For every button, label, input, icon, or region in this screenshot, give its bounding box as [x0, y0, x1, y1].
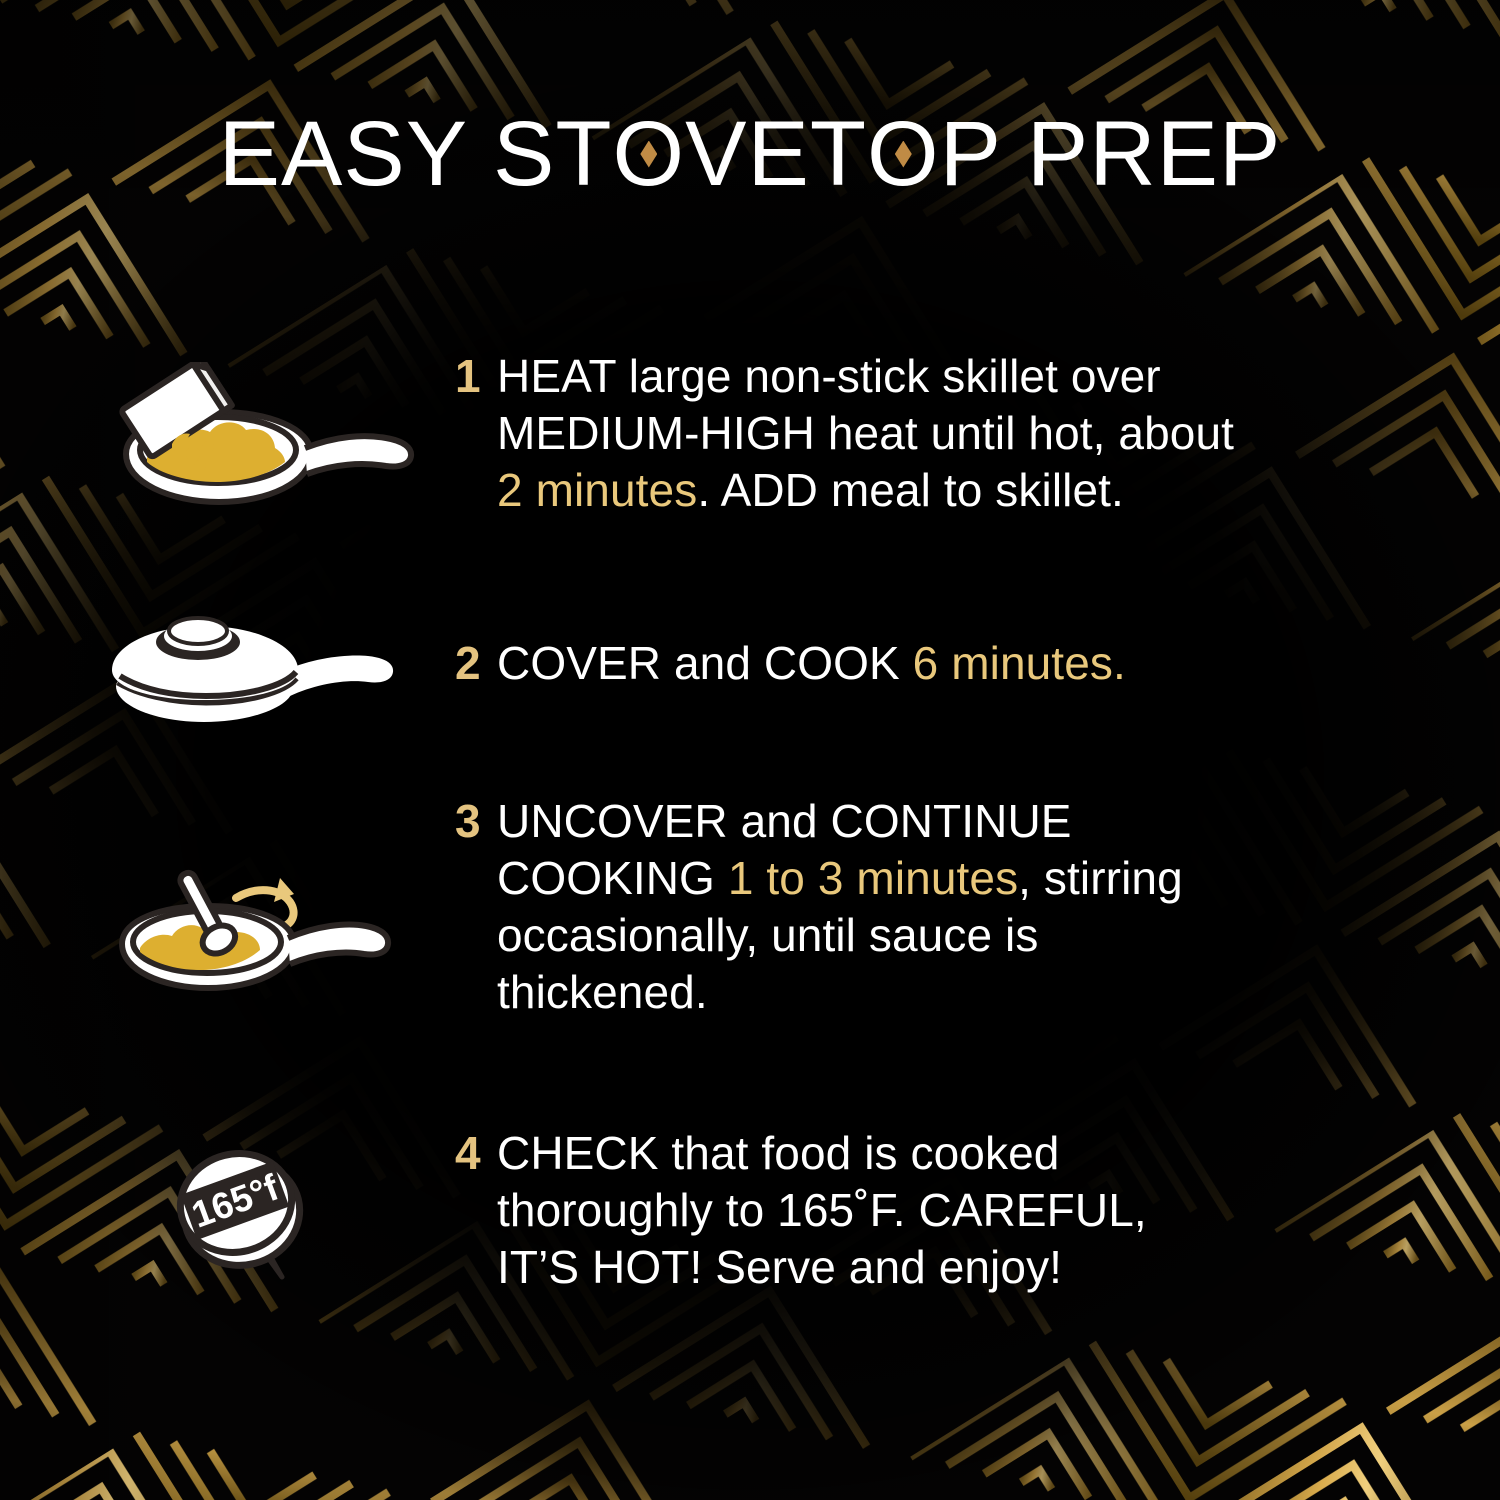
step-text-line: IT’S HOT! Serve and enjoy! — [497, 1239, 1147, 1296]
step-text-line: UNCOVER and CONTINUE — [497, 793, 1183, 850]
body-text: UNCOVER and CONTINUE — [497, 795, 1072, 847]
step-3-number: 3 — [455, 793, 497, 849]
step-2-text: COVER and COOK 6 minutes. — [497, 635, 1126, 692]
skillet-stir-icon — [108, 862, 408, 1017]
step-4-body: 4 CHECK that food is cookedthoroughly to… — [455, 1125, 1415, 1296]
step-2-number: 2 — [455, 635, 497, 691]
step-text-line: MEDIUM-HIGH heat until hot, about — [497, 405, 1234, 462]
body-text: MEDIUM-HIGH heat until hot, about — [497, 407, 1234, 459]
step-text-line: COOKING 1 to 3 minutes, stirring — [497, 850, 1183, 907]
title-part-0: EASY ST — [219, 108, 613, 200]
body-text: IT’S HOT! Serve and enjoy! — [497, 1241, 1062, 1293]
step-4-text: CHECK that food is cookedthoroughly to 1… — [497, 1125, 1147, 1296]
highlight-text: 1 to 3 minutes — [728, 852, 1018, 904]
body-text: thoroughly to 165˚F. CAREFUL, — [497, 1184, 1147, 1236]
step-2-body: 2 COVER and COOK 6 minutes. — [455, 635, 1455, 692]
step-1-body: 1 HEAT large non-stick skillet overMEDIU… — [455, 348, 1455, 519]
step-4-number: 4 — [455, 1125, 497, 1181]
step-3-text: UNCOVER and CONTINUECOOKING 1 to 3 minut… — [497, 793, 1183, 1021]
title-part-4: P PREP — [940, 108, 1282, 200]
step-3-body: 3 UNCOVER and CONTINUECOOKING 1 to 3 min… — [455, 793, 1415, 1021]
step-text-line: occasionally, until sauce is — [497, 907, 1183, 964]
step-1-text: HEAT large non-stick skillet overMEDIUM-… — [497, 348, 1234, 519]
skillet-pour-icon — [86, 362, 426, 532]
step-1-number: 1 — [455, 348, 497, 404]
body-text: HEAT large non-stick skillet over — [497, 350, 1161, 402]
title-part-2: VET — [685, 108, 867, 200]
highlight-text: 6 minutes. — [913, 637, 1126, 689]
step-text-line: thickened. — [497, 964, 1183, 1021]
page-title: EASY STOVETOP PREP — [0, 108, 1500, 200]
title-part-1: O — [613, 108, 686, 200]
body-text: , stirring — [1018, 852, 1183, 904]
step-text-line: COVER and COOK 6 minutes. — [497, 635, 1126, 692]
step-text-line: HEAT large non-stick skillet over — [497, 348, 1234, 405]
covered-skillet-icon — [98, 614, 418, 749]
body-text: COOKING — [497, 852, 728, 904]
step-text-line: thoroughly to 165˚F. CAREFUL, — [497, 1182, 1147, 1239]
body-text: CHECK that food is cooked — [497, 1127, 1059, 1179]
thermometer-165-icon: 165°f — [160, 1145, 325, 1305]
step-text-line: 2 minutes. ADD meal to skillet. — [497, 462, 1234, 519]
body-text: occasionally, until sauce is — [497, 909, 1038, 961]
step-text-line: CHECK that food is cooked — [497, 1125, 1147, 1182]
body-text: COVER and COOK — [497, 637, 913, 689]
title-part-3: O — [867, 108, 940, 200]
highlight-text: 2 minutes — [497, 464, 697, 516]
body-text: . ADD meal to skillet. — [697, 464, 1124, 516]
body-text: thickened. — [497, 966, 708, 1018]
